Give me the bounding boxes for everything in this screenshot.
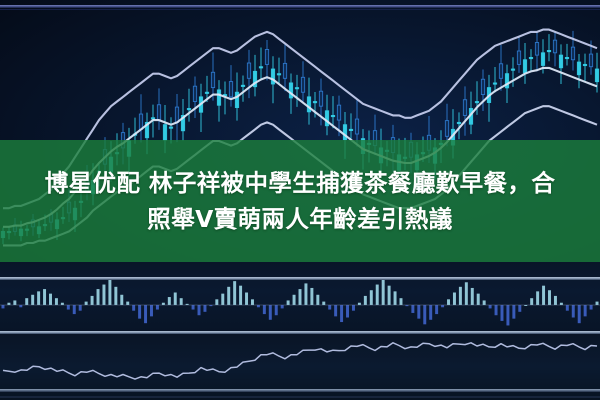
headline-line-2: 照舉V賣萌兩人年齡差引熱議 — [20, 201, 580, 237]
macd-histogram-bars — [0, 280, 600, 325]
oscillator-series — [3, 343, 597, 379]
screenshot-root: 博星优配 林子祥被中學生捕獲茶餐廳歎早餐，合 照舉V賣萌兩人年齡差引熱議 — [0, 0, 600, 400]
headline-text-block: 博星优配 林子祥被中學生捕獲茶餐廳歎早餐，合 照舉V賣萌兩人年齡差引熱議 — [20, 165, 580, 237]
headline-line-1: 博星优配 林子祥被中學生捕獲茶餐廳歎早餐，合 — [20, 165, 580, 201]
headline-banner: 博星优配 林子祥被中學生捕獲茶餐廳歎早餐，合 照舉V賣萌兩人年齡差引熱議 — [0, 140, 600, 262]
